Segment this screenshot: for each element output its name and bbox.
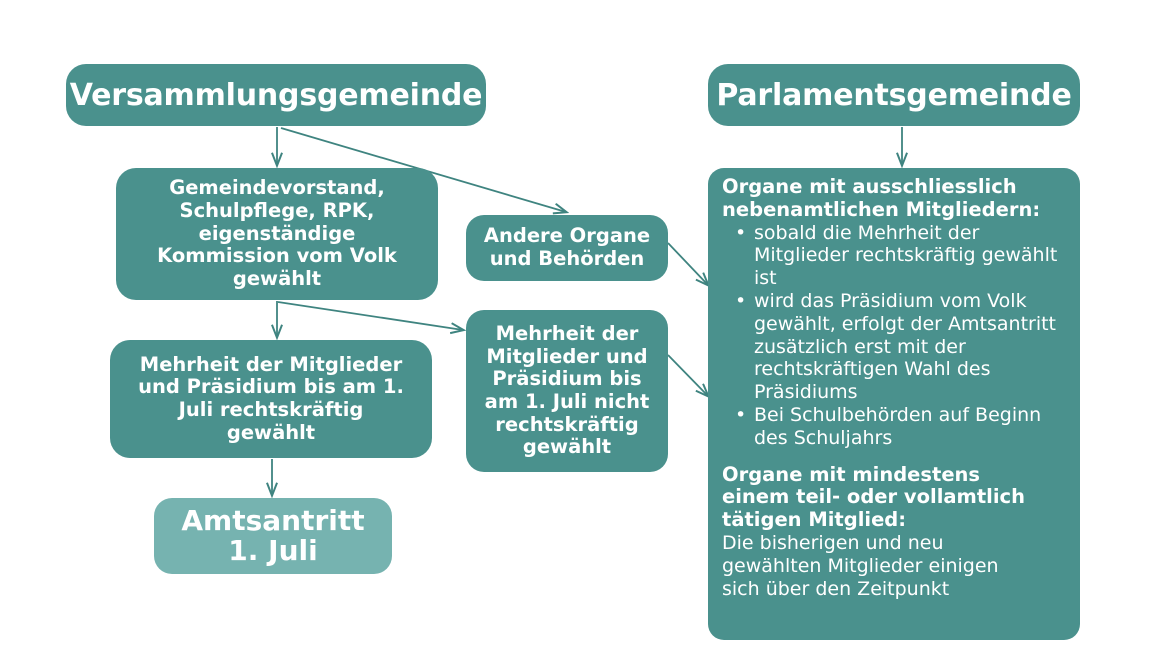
node-gemeindevorstand: Gemeindevorstand, Schulpflege, RPK, eige… (116, 168, 438, 300)
node-mehrheit-rechtskraeftig-label: Mehrheit der Mitglieder und Präsidium bi… (110, 354, 432, 444)
list-item-label: Bei Schulbehörden auf Beginn des Schulja… (754, 404, 1041, 449)
node-mehrheit-nicht-label: Mehrheit der Mitglieder und Präsidium bi… (466, 323, 668, 459)
connector-andere-organe-to-organe-panel (668, 243, 708, 285)
node-versammlungsgemeinde: Versammlungsgemeinde (66, 64, 486, 126)
diagram-canvas: Versammlungsgemeinde Parlamentsgemeinde … (0, 0, 1152, 654)
node-andere-organe: Andere Organe und Behörden (466, 215, 668, 281)
node-amtsantritt: Amtsantritt 1. Juli (154, 498, 392, 574)
panel-body-vollamtlich: Die bisherigen und neu gewählten Mitglie… (722, 532, 1070, 600)
node-gemeindevorstand-label: Gemeindevorstand, Schulpflege, RPK, eige… (116, 177, 438, 290)
node-andere-organe-label: Andere Organe und Behörden (466, 225, 668, 270)
list-item: • wird das Präsidium vom Volk gewählt, e… (752, 290, 1070, 404)
node-organe-panel: Organe mit ausschliesslich nebenamtliche… (708, 168, 1080, 640)
node-mehrheit-rechtskraeftig: Mehrheit der Mitglieder und Präsidium bi… (110, 340, 432, 458)
node-parlamentsgemeinde: Parlamentsgemeinde (708, 64, 1080, 126)
connector-gemeindevorstand-to-mehrheit-nicht (278, 302, 463, 330)
node-amtsantritt-label: Amtsantritt 1. Juli (154, 506, 392, 566)
node-versammlungsgemeinde-label: Versammlungsgemeinde (66, 78, 486, 113)
bullet-icon: • (735, 290, 746, 313)
bullet-icon: • (735, 222, 746, 245)
list-item-label: wird das Präsidium vom Volk gewählt, erf… (754, 290, 1056, 403)
bullet-icon: • (735, 404, 746, 427)
list-item-label: sobald die Mehrheit der Mitglieder recht… (754, 222, 1057, 290)
list-item: • sobald die Mehrheit der Mitglieder rec… (752, 222, 1070, 290)
list-item: • Bei Schulbehörden auf Beginn des Schul… (752, 404, 1070, 450)
panel-heading-vollamtlich: Organe mit mindestens einem teil- oder v… (722, 464, 1070, 532)
node-mehrheit-nicht: Mehrheit der Mitglieder und Präsidium bi… (466, 310, 668, 472)
panel-bullet-list: • sobald die Mehrheit der Mitglieder rec… (722, 222, 1070, 450)
connector-mehrheit-nicht-to-organe-panel (668, 355, 708, 396)
panel-heading-nebenamtlich: Organe mit ausschliesslich nebenamtliche… (722, 176, 1070, 222)
node-parlamentsgemeinde-label: Parlamentsgemeinde (708, 78, 1080, 113)
